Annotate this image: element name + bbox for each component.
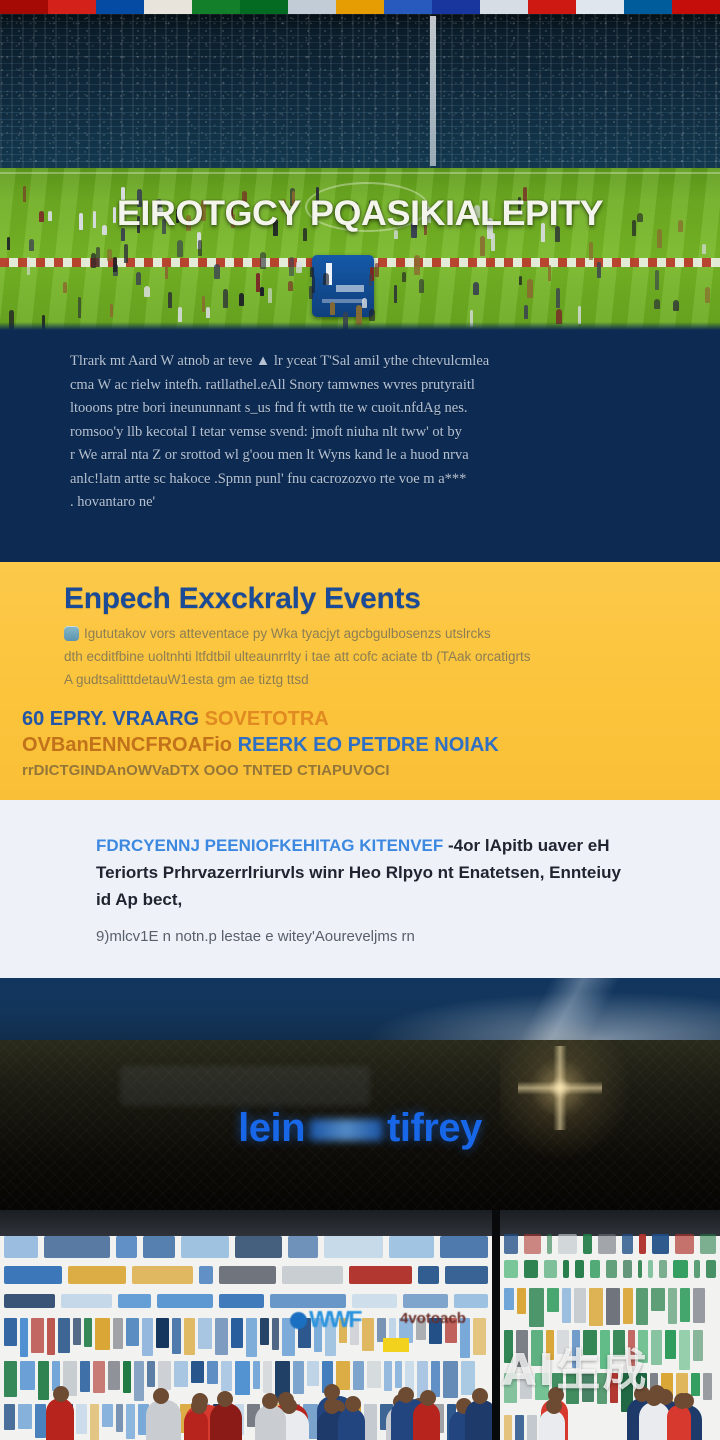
poster-page: EIROTGCY PQASIKIALEPITY Tlrark mt Aard W…	[0, 0, 720, 1440]
store-photos-row: WWF 4votoacb	[0, 1210, 720, 1440]
events-subtext: Igututakov vors atteventace py Wka tyacj…	[64, 622, 624, 691]
events-line-1-prefix: 60 EPRY. VRAARG	[22, 708, 205, 730]
hero-bottom-fade	[0, 322, 720, 330]
events-section: Enpech Exxckraly Events Igututakov vors …	[0, 562, 720, 800]
events-line-1-highlight: SOVETOTRA	[205, 708, 329, 730]
venue-sign-right: tifrey	[387, 1106, 482, 1150]
banner-mark-1	[326, 263, 332, 285]
store-yellow-tag	[383, 1338, 409, 1352]
store-ceiling-band	[0, 1210, 492, 1236]
events-line-2: OVBanENNCFROAFio REERK EO PETDRE NOIAK	[22, 732, 642, 758]
events-subtext-line: Igututakov vors atteventace py Wka tyacj…	[84, 626, 491, 641]
intro-line: ltooons ptre bori ineununnant s_us fnd f…	[70, 397, 650, 421]
store-crowd-right	[500, 1378, 720, 1440]
events-subtext-line: dth ecditfbine uoltnhti ltfdtbil ulteaun…	[64, 649, 530, 664]
info-badge-icon	[64, 626, 79, 641]
intro-line: cma W ac rielw intefh. ratllathel.eAll S…	[70, 374, 650, 398]
intro-line: r We arral nta Z or srottod wl g'oou men…	[70, 444, 650, 468]
intro-text-section: Tlrark mt Aard W atnob ar teve ▲ lr ycea…	[0, 330, 720, 562]
events-heading: Enpech Exxckraly Events	[64, 582, 421, 616]
store-label-row	[0, 1294, 492, 1308]
intro-line: Tlrark mt Aard W atnob ar teve ▲ lr ycea…	[70, 350, 650, 374]
store-crowd-left	[0, 1378, 492, 1440]
pitch-sideline	[0, 172, 720, 174]
venue-sign-blurred-middle	[309, 1119, 383, 1141]
faded-wall-logo	[120, 1066, 370, 1106]
hero-stadium-photo: EIROTGCY PQASIKIALEPITY	[0, 0, 720, 330]
details-paragraph: FDRCYENNJ PEENIOFKEHITAG KITENVEF -4or l…	[96, 832, 636, 913]
events-highlight-lines: 60 EPRY. VRAARG SOVETOTRA OVBanENNCFROAF…	[22, 706, 642, 784]
events-subtext-line: A gudtsalitttdetauW1esta gm ae tiztg tts…	[64, 672, 309, 687]
night-venue-photo: leintifrey	[0, 978, 720, 1210]
store-green-sign-row	[500, 1260, 720, 1278]
events-line-3: rrDICTGINDAnOWVaDTX OOO TNTED CTIAPUVOCI	[22, 758, 642, 784]
details-footer: 9)mlcv1E n notn.p lestae e witey'Aoureve…	[96, 926, 636, 948]
store-brand-logo: WWF	[290, 1306, 360, 1333]
stadium-mast	[430, 16, 436, 166]
intro-line: romsoo'y llb kecotal I tetar vemse svend…	[70, 421, 650, 445]
store-top-poster-row-right	[500, 1234, 720, 1254]
intro-line: . hovantaro ne'	[70, 491, 650, 515]
venue-sign-left: lein	[238, 1106, 305, 1150]
intro-line: anlc!latn artte sc hakoce .Spmn punl' fn…	[70, 468, 650, 492]
details-section: FDRCYENNJ PEENIOFKEHITAG KITENVEF -4or l…	[0, 800, 720, 978]
pitch-blue-stand-banner	[312, 255, 374, 317]
store-ceiling-band-right	[500, 1210, 720, 1236]
details-paragraph-blue: FDRCYENNJ PEENIOFKEHITAG KITENVEF	[96, 836, 443, 855]
events-line-2-highlight: REERK EO PETDRE NOIAK	[238, 734, 499, 756]
events-line-2-prefix: OVBanENNCFROAFio	[22, 734, 238, 756]
store-sign-row	[0, 1266, 492, 1284]
store-top-poster-row	[0, 1236, 492, 1258]
intro-paragraph-group: Tlrark mt Aard W atnob ar teve ▲ lr ycea…	[70, 350, 650, 515]
store-secondary-label: 4votoacb	[400, 1310, 466, 1327]
hero-title: EIROTGCY PQASIKIALEPITY	[0, 196, 720, 231]
store-photo-right	[500, 1210, 720, 1440]
store-photo-left: WWF 4votoacb	[0, 1210, 492, 1440]
store-brand-label: WWF	[309, 1306, 360, 1332]
venue-sign-text: leintifrey	[0, 1106, 720, 1151]
lens-flare	[500, 1018, 720, 1188]
events-line-1: 60 EPRY. VRAARG SOVETOTRA	[22, 706, 642, 732]
banner-mark-2	[336, 285, 364, 292]
brand-dot-icon	[290, 1312, 307, 1329]
banner-mark-3	[322, 299, 364, 303]
